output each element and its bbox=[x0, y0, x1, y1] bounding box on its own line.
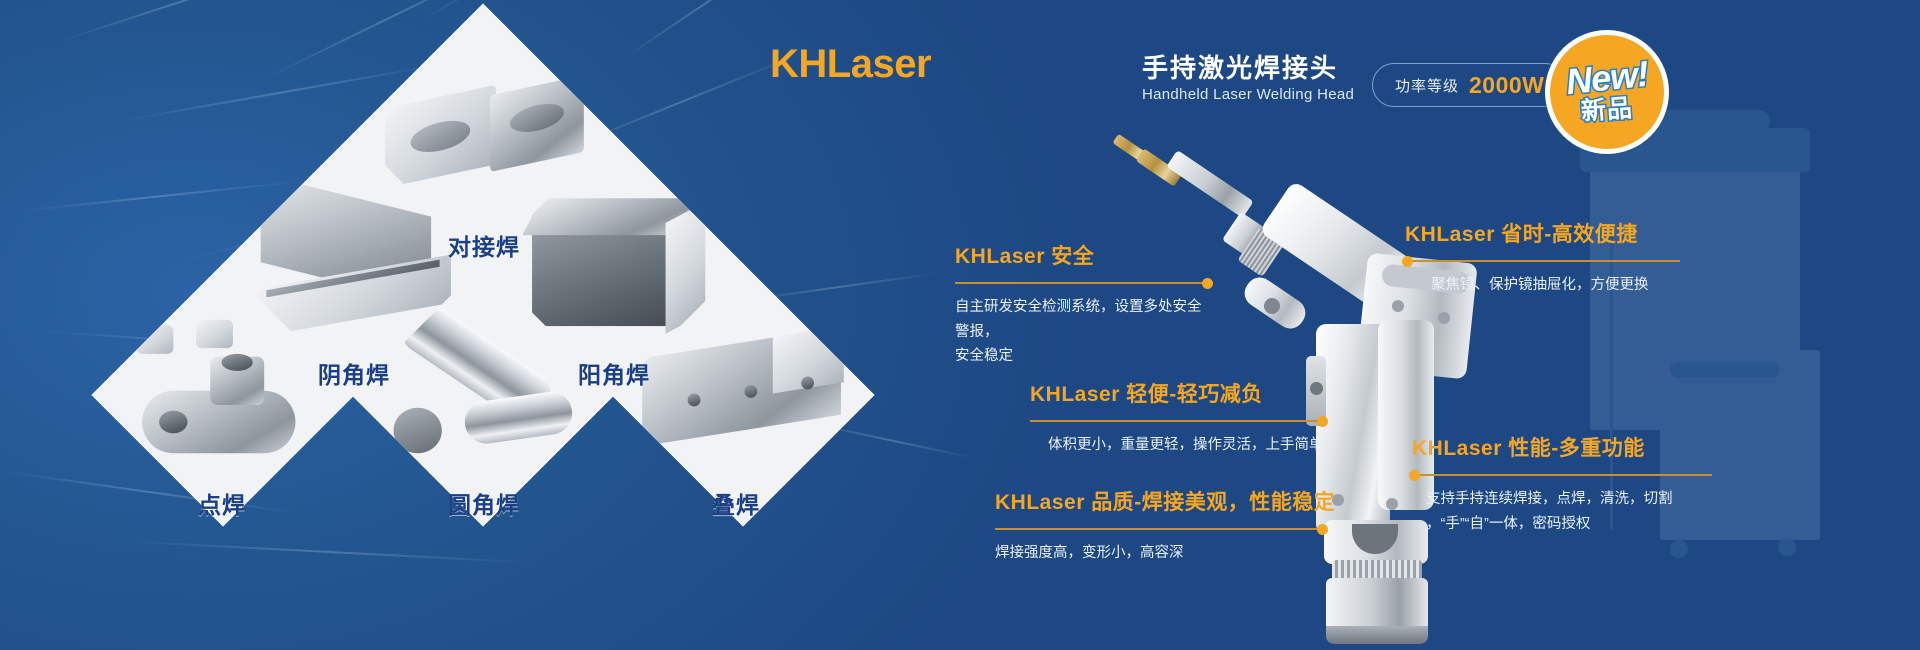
feature-rule-dot bbox=[1409, 470, 1420, 481]
new-badge-en-text: New! bbox=[1564, 57, 1649, 100]
feature-rule-dot bbox=[1317, 524, 1328, 535]
feature-rule-dot bbox=[1202, 278, 1213, 289]
feature-title: KHLaser 轻便-轻巧减负 bbox=[1030, 378, 1325, 408]
feature-callout-performance: KHLaser 性能-多重功能 支持手持连续焊接，点焊，清洗，切割 ，“手”“自… bbox=[1412, 432, 1712, 536]
feature-description: 体积更小，重量更轻，操作灵活，上手简单 bbox=[1030, 433, 1325, 458]
feature-description: 自主研发安全检测系统，设置多处安全警报， 安全稳定 bbox=[955, 295, 1210, 369]
product-banner: 对接焊 阴角焊 阳角焊 bbox=[0, 0, 1920, 650]
weld-type-label: 点焊 bbox=[198, 486, 246, 520]
feature-rule bbox=[955, 277, 1210, 289]
brand-name: KHLaser bbox=[770, 44, 931, 84]
feature-rule bbox=[1412, 469, 1712, 481]
feature-rule-dot bbox=[1402, 256, 1413, 267]
feature-callout-safety: KHLaser 安全 自主研发安全检测系统，设置多处安全警报， 安全稳定 bbox=[955, 240, 1210, 369]
product-title-en: Handheld Laser Welding Head bbox=[1142, 86, 1354, 103]
weld-type-label: 叠焊 bbox=[712, 486, 760, 520]
weld-type-label: 圆角焊 bbox=[448, 486, 520, 520]
brand-block: KHLaser bbox=[770, 44, 931, 84]
feature-title: KHLaser 品质-焊接美观，性能稳定 bbox=[995, 486, 1325, 516]
power-rating-label: 功率等级 bbox=[1395, 75, 1459, 96]
spot-weld-nuts-icon bbox=[117, 317, 330, 473]
feature-rule bbox=[1405, 255, 1680, 267]
product-title-cn: 手持激光焊接头 bbox=[1142, 48, 1338, 85]
power-rating-badge: 功率等级 2000W bbox=[1372, 63, 1567, 107]
feature-rule-line bbox=[1030, 420, 1325, 422]
feature-rule bbox=[1030, 415, 1325, 427]
weld-type-diamond-grid: 对接焊 阴角焊 阳角焊 bbox=[150, 46, 810, 546]
feature-rule-line bbox=[955, 282, 1210, 284]
feature-callout-quality: KHLaser 品质-焊接美观，性能稳定 焊接强度高，变形小，高容深 bbox=[995, 486, 1325, 566]
feature-rule-line bbox=[995, 528, 1325, 530]
feature-rule-line bbox=[1405, 260, 1680, 262]
weld-type-label: 对接焊 bbox=[448, 228, 520, 262]
power-rating-value: 2000W bbox=[1469, 72, 1544, 99]
feature-title: KHLaser 省时-高效便捷 bbox=[1405, 218, 1680, 248]
new-badge-cn-text: 新品 bbox=[1580, 96, 1634, 125]
lap-weld-sheets-icon bbox=[637, 317, 850, 473]
new-product-badge: New! 新品 bbox=[1545, 30, 1669, 154]
weld-type-label: 阳角焊 bbox=[578, 356, 650, 390]
feature-rule-line bbox=[1412, 474, 1712, 476]
feature-title: KHLaser 安全 bbox=[955, 240, 1210, 270]
feature-description: 支持手持连续焊接，点焊，清洗，切割 ，“手”“自”一体，密码授权 bbox=[1412, 487, 1712, 536]
feature-rule-dot bbox=[1317, 416, 1328, 427]
feature-rule bbox=[995, 523, 1325, 535]
feature-title: KHLaser 性能-多重功能 bbox=[1412, 432, 1712, 462]
fillet-weld-tubes-icon bbox=[377, 317, 590, 473]
weld-type-label: 阴角焊 bbox=[318, 356, 390, 390]
feature-callout-time-saving: KHLaser 省时-高效便捷 聚焦镜、保护镜抽屉化，方便更换 bbox=[1405, 218, 1680, 298]
feature-callout-lightweight: KHLaser 轻便-轻巧减负 体积更小，重量更轻，操作灵活，上手简单 bbox=[1030, 378, 1325, 458]
feature-description: 焊接强度高，变形小，高容深 bbox=[995, 541, 1325, 566]
feature-description: 聚焦镜、保护镜抽屉化，方便更换 bbox=[1405, 273, 1680, 298]
